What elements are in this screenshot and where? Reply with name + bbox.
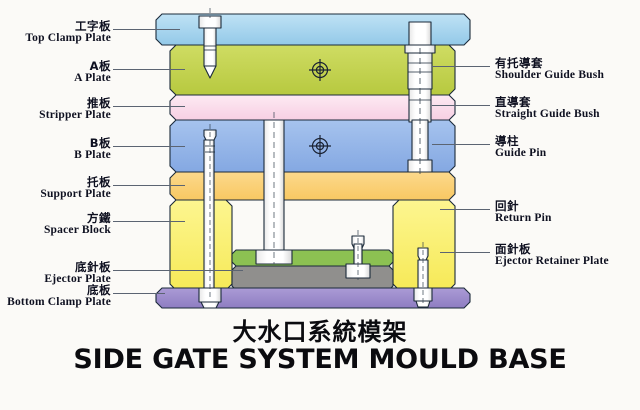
label-cn: 面針板 [495, 244, 609, 256]
label-spacer-block: 方鐵 Spacer Block [44, 213, 111, 236]
label-en: Spacer Block [44, 225, 111, 237]
leader-line-stripper-plate [113, 106, 185, 107]
label-cn: A板 [74, 61, 111, 73]
diagram-page: 工字板 Top Clamp Plate A板 A Plate 推板 Stripp… [0, 0, 640, 410]
leader-line-shoulder-guide-bush [432, 66, 490, 67]
label-en: Support Plate [40, 189, 111, 201]
leader-line-return-pin [440, 209, 490, 210]
leader-line-support-plate [113, 185, 185, 186]
label-cn: 工字板 [25, 21, 111, 33]
label-cn: 回針 [495, 201, 552, 213]
label-a-plate: A板 A Plate [74, 61, 111, 84]
label-guide-pin: 導柱 Guide Pin [495, 136, 546, 159]
label-bottom-clamp-plate: 底板 Bottom Clamp Plate [7, 285, 111, 308]
label-en: Ejector Retainer Plate [495, 256, 609, 268]
label-top-clamp-plate: 工字板 Top Clamp Plate [25, 21, 111, 44]
label-cn: B板 [74, 138, 111, 150]
label-cn: 方鐵 [44, 213, 111, 225]
title-english: SIDE GATE SYSTEM MOULD BASE [0, 344, 640, 375]
guide-pin-head [409, 22, 431, 45]
label-ejector-retainer-plate: 面針板 Ejector Retainer Plate [495, 244, 609, 267]
label-ejector-plate: 底針板 Ejector Plate [44, 262, 111, 285]
label-straight-guide-bush: 直導套 Straight Guide Bush [495, 97, 600, 120]
label-cn: 底針板 [44, 262, 111, 274]
leader-line-b-plate [113, 146, 185, 147]
leader-line-ejector-plate [113, 270, 243, 271]
label-cn: 托板 [40, 177, 111, 189]
leader-line-top-clamp-plate [113, 29, 180, 30]
title-chinese: 大水口系統模架 [0, 312, 640, 347]
label-en: B Plate [74, 150, 111, 162]
leader-line-straight-guide-bush [432, 105, 490, 106]
leader-line-bottom-clamp-plate [113, 293, 165, 294]
spacer-block [170, 200, 232, 290]
label-support-plate: 托板 Support Plate [40, 177, 111, 200]
label-b-plate: B板 B Plate [74, 138, 111, 161]
label-en: Straight Guide Bush [495, 109, 600, 121]
label-cn: 導柱 [495, 136, 546, 148]
label-en: Shoulder Guide Bush [495, 70, 604, 82]
label-cn: 有托導套 [495, 58, 604, 70]
label-en: Guide Pin [495, 148, 546, 160]
leader-line-guide-pin [432, 144, 490, 145]
leader-line-spacer-block [113, 221, 185, 222]
leader-line-ejector-retainer-plate [440, 252, 490, 253]
label-en: A Plate [74, 73, 111, 85]
label-en: Return Pin [495, 213, 552, 225]
label-stripper-plate: 推板 Stripper Plate [39, 98, 111, 121]
label-cn: 推板 [39, 98, 111, 110]
label-cn: 底板 [7, 285, 111, 297]
label-en: Stripper Plate [39, 110, 111, 122]
label-return-pin: 回針 Return Pin [495, 201, 552, 224]
label-shoulder-guide-bush: 有托導套 Shoulder Guide Bush [495, 58, 604, 81]
leader-line-a-plate [113, 69, 185, 70]
label-en: Bottom Clamp Plate [7, 297, 111, 309]
label-en: Top Clamp Plate [25, 33, 111, 45]
label-cn: 直導套 [495, 97, 600, 109]
